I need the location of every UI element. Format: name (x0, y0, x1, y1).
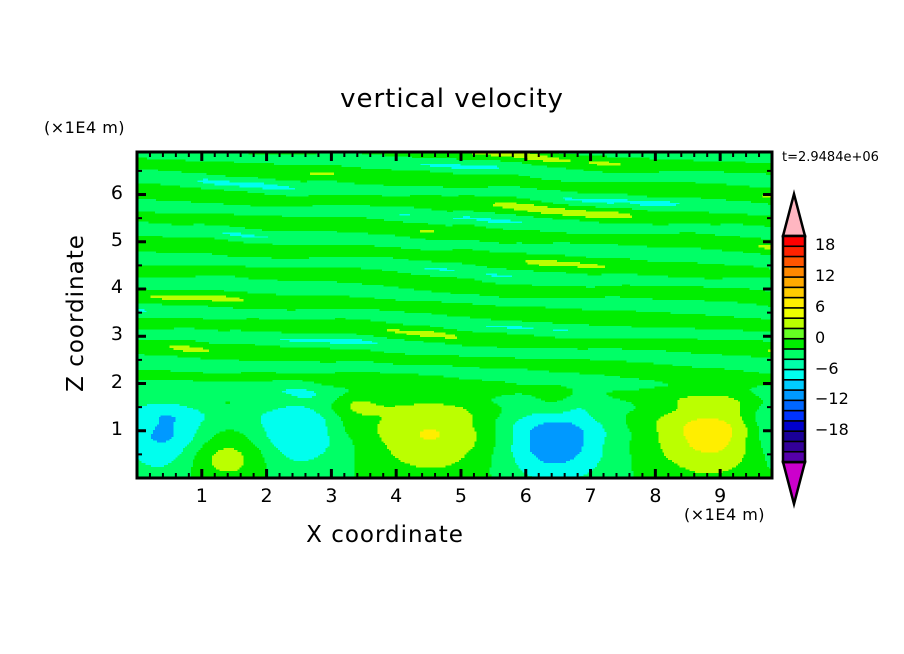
contour-field (137, 152, 773, 479)
colorbar-tick-label-5: −12 (815, 389, 849, 408)
figure-canvas: vertical velocity (×1E4 m) (×1E4 m) X co… (0, 0, 904, 654)
colorbar-tick-label-1: 12 (815, 266, 835, 285)
x-tick-label-3: 3 (301, 485, 361, 507)
x-tick-label-8: 8 (625, 485, 685, 507)
y-tick-label-2: 2 (91, 371, 123, 393)
x-tick-label-6: 6 (496, 485, 556, 507)
y-tick-label-1: 1 (91, 418, 123, 440)
colorbar-tick-label-2: 6 (815, 297, 825, 316)
colorbar-tick-label-4: −6 (815, 359, 839, 378)
y-tick-label-6: 6 (91, 182, 123, 204)
colorbar-tick-label-0: 18 (815, 235, 835, 254)
y-tick-label-5: 5 (91, 229, 123, 251)
contour-plot (0, 0, 904, 654)
colorbar-tick-label-6: −18 (815, 420, 849, 439)
x-tick-label-5: 5 (431, 485, 491, 507)
x-tick-label-7: 7 (561, 485, 621, 507)
y-tick-label-3: 3 (91, 323, 123, 345)
x-tick-label-2: 2 (237, 485, 297, 507)
y-tick-label-4: 4 (91, 276, 123, 298)
x-tick-label-4: 4 (366, 485, 426, 507)
colorbar-tick-label-3: 0 (815, 328, 825, 347)
colorbar (783, 194, 805, 504)
x-tick-label-9: 9 (690, 485, 750, 507)
x-tick-label-1: 1 (172, 485, 232, 507)
